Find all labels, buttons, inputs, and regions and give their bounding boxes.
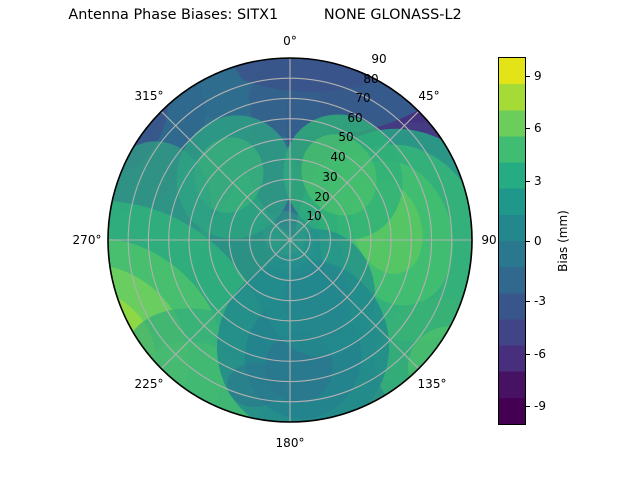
angular-gridlines xyxy=(108,58,472,422)
colorbar-tick-m3 xyxy=(526,301,530,302)
r-label-70: 70 xyxy=(355,91,370,105)
colorbar-tick-9 xyxy=(526,76,530,77)
colorbar-ticklabel-m9: -9 xyxy=(534,399,546,413)
theta-label-180: 180° xyxy=(276,436,305,450)
r-label-10: 10 xyxy=(306,209,321,223)
figure-title: Antenna Phase Biases: SITX1 NONE GLONASS… xyxy=(0,7,530,23)
theta-label-315: 315° xyxy=(135,89,164,103)
r-label-20: 20 xyxy=(314,190,329,204)
theta-label-225: 225° xyxy=(135,377,164,391)
colorbar-tick-m9 xyxy=(526,406,530,407)
r-label-90: 90 xyxy=(371,52,386,66)
theta-label-0: 0° xyxy=(283,34,297,48)
colorbar[interactable]: 9 6 3 0 -3 -6 -9 xyxy=(498,57,526,425)
colorbar-ticklabel-6: 6 xyxy=(534,121,542,135)
r-label-30: 30 xyxy=(322,170,337,184)
theta-label-90: 90 xyxy=(481,233,496,247)
colorbar-ticklabel-3: 3 xyxy=(534,174,542,188)
colorbar-gradient xyxy=(498,57,526,425)
polar-axes[interactable]: 0° 45° 90 135° 180° 225° 270° 315° 10 20… xyxy=(107,57,473,423)
colorbar-tick-3 xyxy=(526,181,530,182)
r-label-40: 40 xyxy=(330,150,345,164)
r-label-60: 60 xyxy=(347,111,362,125)
r-label-80: 80 xyxy=(363,72,378,86)
colorbar-axis-label: Bias (mm) xyxy=(556,210,570,272)
colorbar-ticklabel-9: 9 xyxy=(534,69,542,83)
theta-label-270: 270° xyxy=(73,233,102,247)
theta-label-45: 45° xyxy=(418,89,439,103)
colorbar-ticklabel-m3: -3 xyxy=(534,294,546,308)
polar-contour-plot xyxy=(107,57,473,423)
colorbar-ticklabel-0: 0 xyxy=(534,234,542,248)
colorbar-ticklabel-m6: -6 xyxy=(534,347,546,361)
colorbar-tick-m6 xyxy=(526,354,530,355)
matplotlib-figure: Antenna Phase Biases: SITX1 NONE GLONASS… xyxy=(0,0,640,480)
theta-label-135: 135° xyxy=(418,377,447,391)
colorbar-tick-0 xyxy=(526,241,530,242)
r-label-50: 50 xyxy=(338,130,353,144)
colorbar-tick-6 xyxy=(526,128,530,129)
